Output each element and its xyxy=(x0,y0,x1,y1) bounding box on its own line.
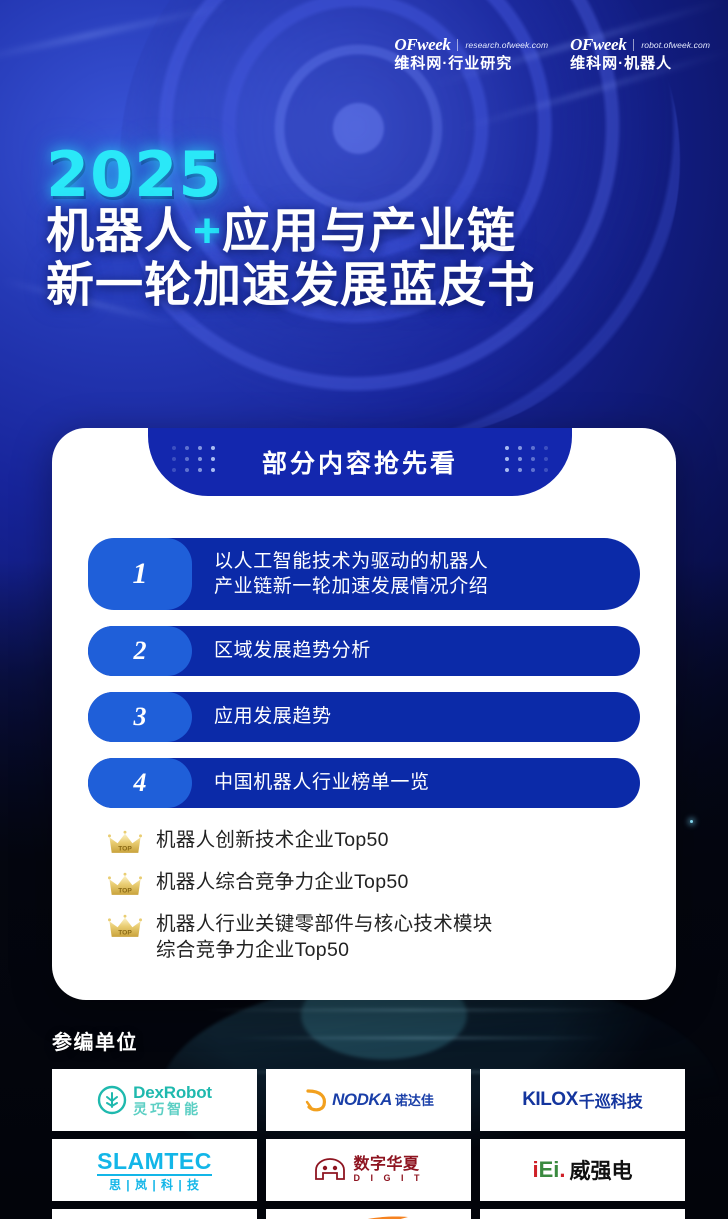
crown-top-icon: TOP xyxy=(108,872,142,900)
sponsor-name-cn: 思 | 岚 | 科 | 技 xyxy=(109,1179,200,1192)
list-item-line: 区域发展趋势分析 xyxy=(214,638,371,663)
title-line1-b: 应用与产业链 xyxy=(222,205,516,258)
sponsor-name-cn: 千巡科技 xyxy=(579,1088,643,1112)
sub-item-line: 机器人综合竞争力企业Top50 xyxy=(156,870,409,896)
svg-text:TOP: TOP xyxy=(118,846,132,853)
sub-item-text: 机器人创新技术企业Top50 xyxy=(156,828,389,854)
list-item-number: 2 xyxy=(88,626,192,676)
crown-top-icon: TOP xyxy=(108,830,142,858)
content-list: 1 以人工智能技术为驱动的机器人 产业链新一轮加速发展情况介绍 2 区域发展趋势… xyxy=(88,538,640,824)
brand-research-top: OFweek research.ofweek.com xyxy=(394,36,548,53)
card-header-title: 部分内容抢先看 xyxy=(262,444,458,480)
sub-item-line: 机器人行业关键零部件与核心技术模块 xyxy=(156,912,493,938)
title-year: 2025 xyxy=(46,146,536,205)
digit-mark-icon xyxy=(313,1157,347,1183)
sponsor-logo-inlinbot[interactable]: inLinBot 盈连科技 xyxy=(480,1209,685,1219)
list-item[interactable]: TOP 机器人综合竞争力企业Top50 xyxy=(108,870,648,900)
sponsor-name-en: NODKA xyxy=(332,1091,392,1109)
sponsor-logo-digit[interactable]: 数字华夏 D I G I T xyxy=(266,1139,471,1201)
list-item[interactable]: TOP 机器人创新技术企业Top50 xyxy=(108,828,648,858)
poster-title: 2025 机器人+应用与产业链 新一轮加速发展蓝皮书 xyxy=(46,146,536,312)
header-brand-bar: OFweek research.ofweek.com 维科网·行业研究 OFwe… xyxy=(394,36,710,71)
list-item-line: 应用发展趋势 xyxy=(214,704,332,729)
sponsor-logo-kilox[interactable]: KILOX 千巡科技 xyxy=(480,1069,685,1131)
dot-grid-right-decoration xyxy=(505,446,548,472)
ofweek-logo: OFweek xyxy=(394,36,450,53)
card-header-banner: 部分内容抢先看 xyxy=(148,428,572,496)
sponsor-name-cn: 灵巧智能 xyxy=(133,1102,212,1117)
brand-research-url: research.ofweek.com xyxy=(465,40,548,50)
crown-top-icon: TOP xyxy=(108,914,142,942)
title-line1-a: 机器人 xyxy=(46,205,193,258)
sub-item-line: 机器人创新技术企业Top50 xyxy=(156,828,389,854)
sponsors-title: 参编单位 xyxy=(52,1026,685,1055)
ofweek-logo: OFweek xyxy=(570,36,626,53)
list-item[interactable]: 1 以人工智能技术为驱动的机器人 产业链新一轮加速发展情况介绍 xyxy=(88,538,640,610)
poster-root: OFweek research.ofweek.com 维科网·行业研究 OFwe… xyxy=(0,0,728,1219)
sponsor-logo-slamtec[interactable]: SLAMTEC 思 | 岚 | 科 | 技 xyxy=(52,1139,257,1201)
brand-research-cn: 维科网·行业研究 xyxy=(394,56,548,71)
brand-divider xyxy=(633,39,634,51)
sub-item-text: 机器人综合竞争力企业Top50 xyxy=(156,870,409,896)
title-plus: + xyxy=(193,205,222,258)
list-item-number: 3 xyxy=(88,692,192,742)
sponsor-name-en: DexRobot xyxy=(133,1084,212,1102)
theseus-wing-mark-icon xyxy=(326,1215,412,1219)
sponsor-name-en: iEi. xyxy=(532,1157,565,1183)
dot-grid-left-decoration xyxy=(172,446,215,472)
brand-divider xyxy=(457,39,458,51)
sponsor-logo-iei[interactable]: iEi. 威强电 xyxy=(480,1139,685,1201)
list-item[interactable]: TOP 机器人行业关键零部件与核心技术模块 综合竞争力企业Top50 xyxy=(108,912,648,964)
brand-robot-url: robot.ofweek.com xyxy=(641,40,710,50)
list-item-number: 4 xyxy=(88,758,192,808)
sub-item-text: 机器人行业关键零部件与核心技术模块 综合竞争力企业Top50 xyxy=(156,912,493,964)
list-item-line: 产业链新一轮加速发展情况介绍 xyxy=(214,574,488,599)
title-line-1: 机器人+应用与产业链 xyxy=(46,205,536,259)
list-item[interactable]: 2 区域发展趋势分析 xyxy=(88,626,640,676)
list-item-text: 以人工智能技术为驱动的机器人 产业链新一轮加速发展情况介绍 xyxy=(192,549,488,599)
sponsor-name-cn: 诺达佳 xyxy=(395,1094,434,1108)
list-item[interactable]: 3 应用发展趋势 xyxy=(88,692,640,742)
sponsor-name-en: SLAMTEC xyxy=(97,1149,212,1176)
sponsor-name-cn: 数字华夏 xyxy=(353,1157,423,1174)
sponsor-name-cn: 威强电 xyxy=(570,1155,633,1185)
list-item-line: 以人工智能技术为驱动的机器人 xyxy=(214,549,488,574)
list-item[interactable]: 4 中国机器人行业榜单一览 xyxy=(88,758,640,808)
sponsor-logo-yunji[interactable]: 云迹科技 YUNJI TECHNOLOGY xyxy=(52,1209,257,1219)
nodka-mark-icon xyxy=(303,1087,329,1113)
sponsor-logo-dexrobot[interactable]: DexRobot 灵巧智能 xyxy=(52,1069,257,1131)
brand-robot[interactable]: OFweek robot.ofweek.com 维科网·机器人 xyxy=(570,36,710,71)
sub-item-line: 综合竞争力企业Top50 xyxy=(156,938,493,964)
svg-text:TOP: TOP xyxy=(118,930,132,937)
list-item-line: 中国机器人行业榜单一览 xyxy=(214,770,430,795)
sponsors-section: 参编单位 DexRobot 灵巧智能 xyxy=(52,1026,685,1219)
sponsor-logo-theseus[interactable]: THESEUS 摇橹船科技 xyxy=(266,1209,471,1219)
title-line-2: 新一轮加速发展蓝皮书 xyxy=(46,259,536,313)
sponsor-name-en: KILOX xyxy=(522,1089,578,1111)
sponsor-logo-nodka[interactable]: NODKA 诺达佳 xyxy=(266,1069,471,1131)
list-item-text: 区域发展趋势分析 xyxy=(192,638,371,663)
dexrobot-mark-icon xyxy=(97,1085,127,1115)
content-card: 部分内容抢先看 1 以人工智能技术为驱动的机器人 产业链新一轮加速发展情况介绍 … xyxy=(52,428,676,1000)
glow-dot xyxy=(690,820,693,823)
brand-research[interactable]: OFweek research.ofweek.com 维科网·行业研究 xyxy=(394,36,548,71)
list-item-text: 应用发展趋势 xyxy=(192,704,332,729)
brand-robot-top: OFweek robot.ofweek.com xyxy=(570,36,710,53)
ranking-sublist: TOP 机器人创新技术企业Top50 TOP 机器人综合竞争力企业Top50 xyxy=(108,828,648,976)
brand-robot-cn: 维科网·机器人 xyxy=(570,56,710,71)
svg-text:TOP: TOP xyxy=(118,888,132,895)
sponsor-logo-grid: DexRobot 灵巧智能 NODKA 诺达佳 xyxy=(52,1069,685,1219)
sponsor-name-en: D I G I T xyxy=(353,1174,423,1183)
list-item-number: 1 xyxy=(88,538,192,610)
list-item-text: 中国机器人行业榜单一览 xyxy=(192,770,430,795)
